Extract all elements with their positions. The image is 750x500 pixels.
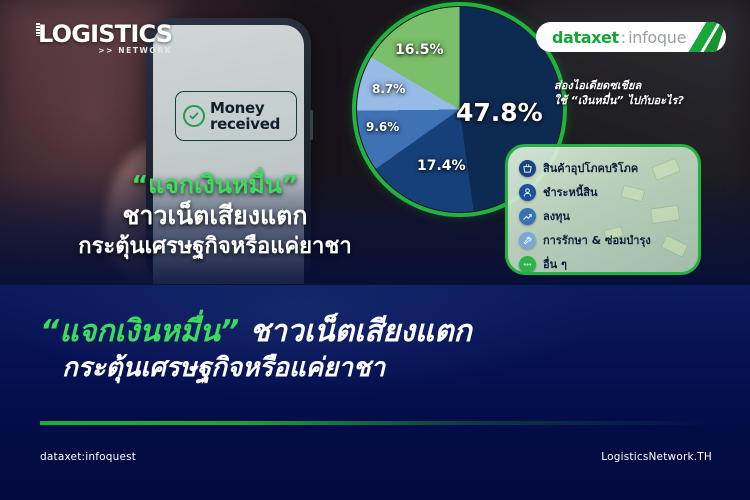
legend-item-1: ชำระหนี้สิน (519, 180, 688, 204)
dataxet-colon: : (621, 28, 626, 47)
hand-coin-icon (519, 184, 536, 201)
logo-main-text: LOGISTICS (38, 22, 172, 46)
legend-label-0: สินค้าอุปโภคบริโภค (543, 159, 638, 177)
legend-label-3: การรักษา & ซ่อมบำรุง (543, 231, 651, 249)
logistics-network-logo: LOGISTICS >> NETWORK (38, 22, 172, 55)
money-received-text: Money received (210, 100, 280, 132)
legend-item-4: อื่น ๆ (519, 252, 688, 275)
dataxet-text: dataxet (552, 28, 619, 47)
bottom-banner: “แจกเงินหมื่น” ชาวเน็ตเสียงแตก กระตุ้นเศ… (0, 285, 750, 500)
banner-rest-text: ชาวเน็ตเสียงแตก (239, 314, 472, 349)
pie-label-3: 8.7% (372, 82, 405, 96)
legend-label-2: ลงทุน (543, 207, 570, 225)
banner-quoted-text: “แจกเงินหมื่น” (40, 314, 239, 349)
green-divider (40, 421, 712, 425)
money-received-notification: Money received (175, 91, 297, 141)
footer-left-credit: dataxet:infoquest (40, 451, 136, 463)
question-line-1: ส่องไอเดียดซเชียล (554, 78, 744, 93)
legend-item-3: การรักษา & ซ่อมบำรุง (519, 228, 688, 252)
growth-chart-icon (519, 208, 536, 225)
question-line-2: ใช้ “เงินหมื่น” ไปกับอะไร? (554, 93, 744, 108)
more-dots-icon (519, 256, 536, 273)
money-line-2: received (210, 115, 280, 133)
banner-headline-line-1: “แจกเงินหมื่น” ชาวเน็ตเสียงแตก (40, 313, 472, 351)
legend-label-4: อื่น ๆ (543, 255, 567, 273)
footer-right-credit: LogisticsNetwork.TH (601, 451, 712, 463)
logo-tick-mark-icon (36, 23, 40, 36)
infographic-canvas: Money received LOGISTICS >> NETWORK 47.8… (0, 0, 750, 500)
pie-label-2: 9.6% (366, 120, 399, 134)
wrench-tools-icon (519, 232, 536, 249)
overlay-headline: “แจกเงินหมื่น” ชาวเน็ตเสียงแตก กระตุ้นเศ… (0, 170, 430, 262)
legend-box: สินค้าอุปโภคบริโภค ชำระหนี้สิน ลงทุน การ… (505, 144, 701, 275)
dataxet-slash-icon (682, 22, 726, 52)
overlay-line-1: “แจกเงินหมื่น” (0, 170, 430, 200)
overlay-line-3: กระตุ้นเศรษฐกิจหรือแค่ยาชา (0, 232, 430, 262)
check-circle-icon (183, 105, 205, 127)
question-text: ส่องไอเดียดซเชียล ใช้ “เงินหมื่น” ไปกับอ… (554, 78, 744, 108)
banner-headline-line-2: กระตุ้นเศรษฐกิจหรือแค่ยาชา (62, 351, 385, 385)
logo-sub-text: >> NETWORK (38, 47, 172, 55)
pie-label-4: 16.5% (395, 42, 444, 58)
legend-item-2: ลงทุน (519, 204, 688, 228)
legend-label-1: ชำระหนี้สิน (543, 183, 597, 201)
overlay-line-2: ชาวเน็ตเสียงแตก (0, 200, 430, 232)
dataxet-infoquest-logo: dataxet : infoquest (536, 22, 726, 52)
pie-label-0: 47.8% (456, 98, 543, 127)
shopping-basket-icon (519, 160, 536, 177)
phone-side-button (310, 110, 313, 140)
legend-item-0: สินค้าอุปโภคบริโภค (519, 156, 688, 180)
